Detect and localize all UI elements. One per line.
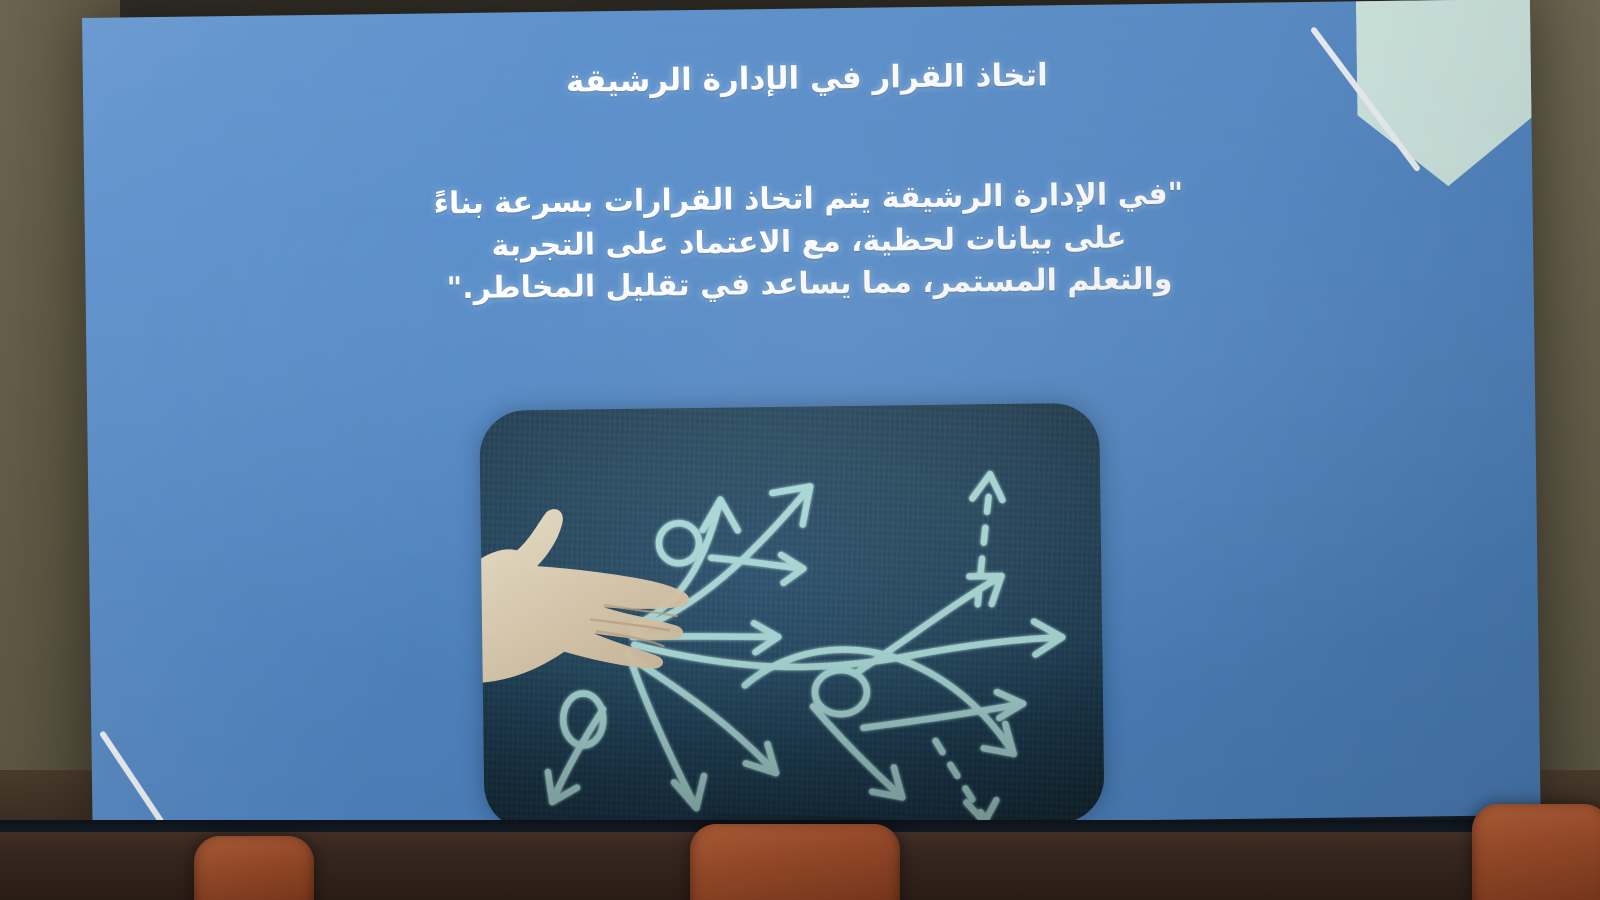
corner-chevron-decoration	[1236, 0, 1538, 189]
diagonal-line-bottom-left	[99, 730, 166, 826]
pointing-hand	[479, 504, 709, 683]
chalkboard-illustration	[479, 403, 1104, 831]
chair-center	[690, 824, 900, 900]
slide-title: اتخاذ القرار في الإدارة الرشيقة	[83, 51, 1531, 106]
chair-left	[194, 836, 314, 900]
screenshot-root: اتخاذ القرار في الإدارة الرشيقة "في الإد…	[0, 0, 1600, 900]
slide-body-text: "في الإدارة الرشيقة يتم اتخاذ القرارات ب…	[84, 169, 1534, 316]
chair-right	[1472, 804, 1600, 900]
projection-screen: اتخاذ القرار في الإدارة الرشيقة "في الإد…	[82, 0, 1541, 848]
